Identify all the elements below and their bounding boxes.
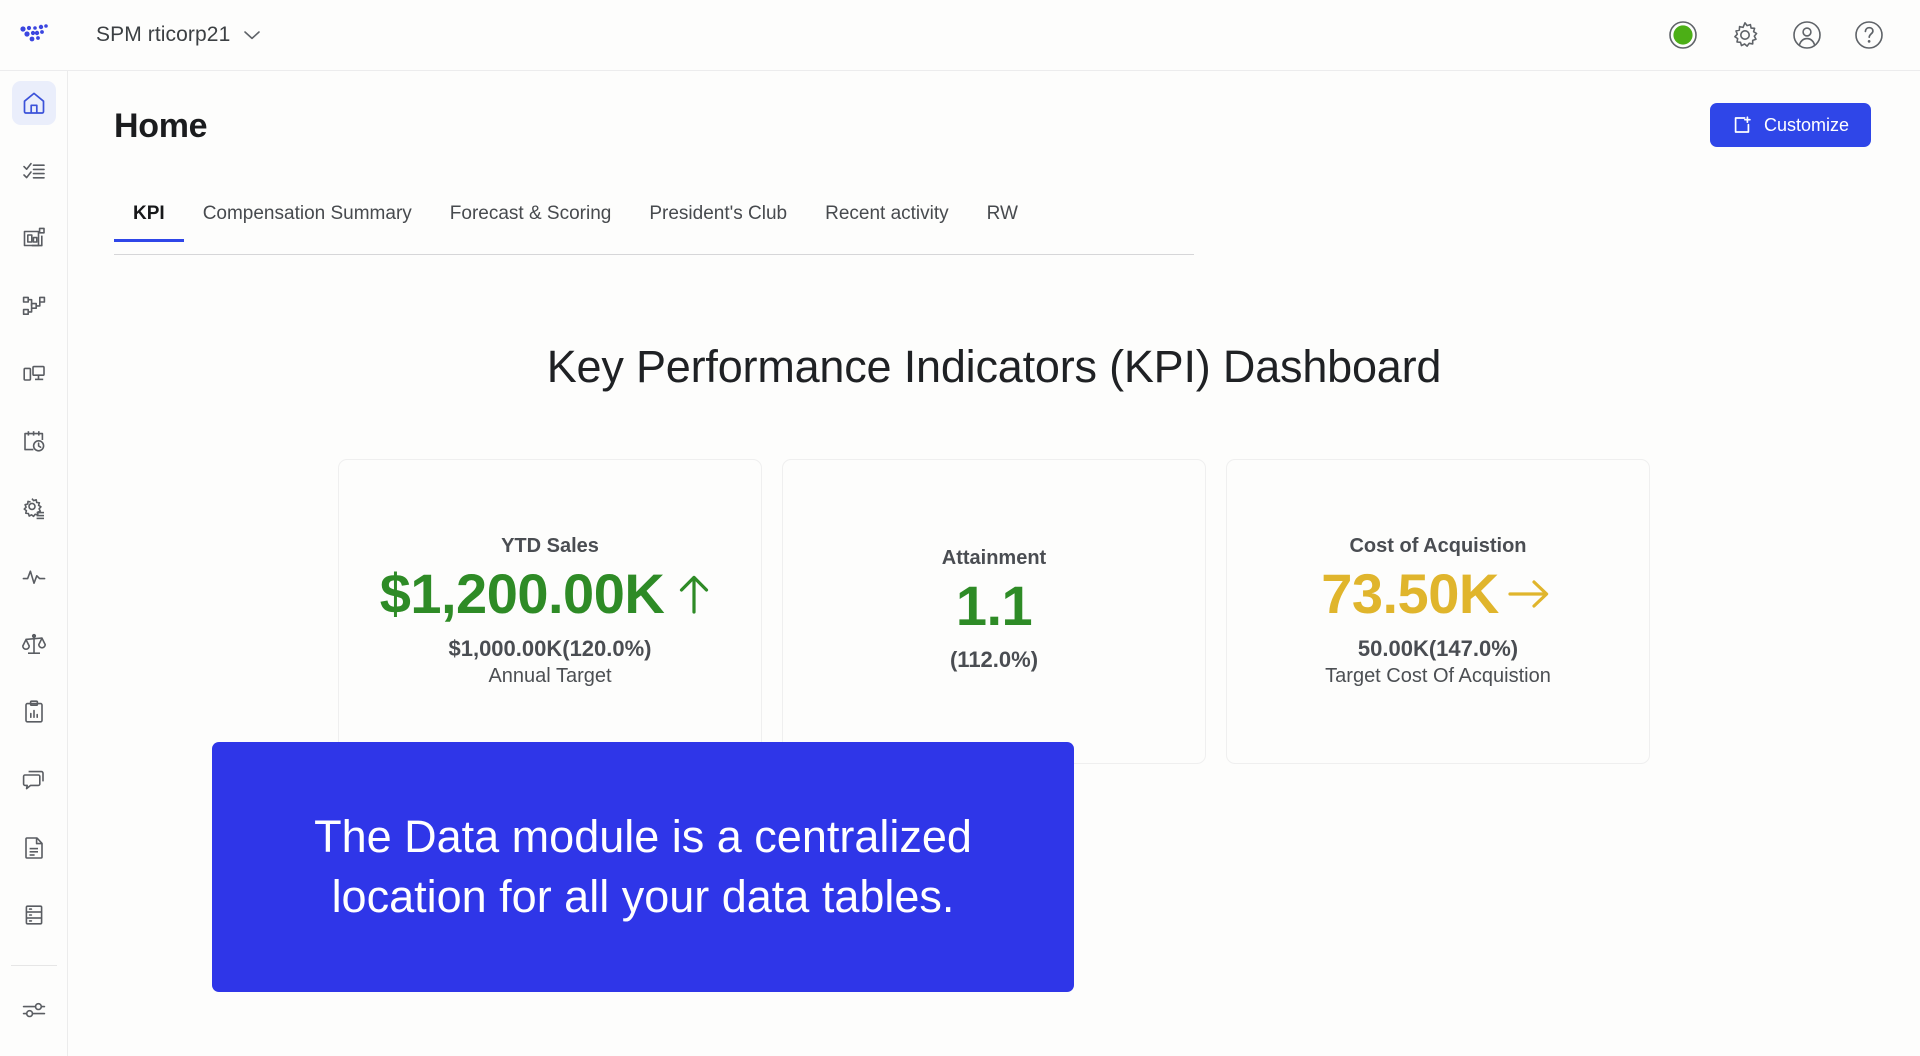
onboarding-tooltip-text: The Data module is a centralized locatio… <box>248 807 1038 928</box>
tab-bar: KPI Compensation Summary Forecast & Scor… <box>114 203 1194 255</box>
kpi-card-sub2: Target Cost Of Acquistion <box>1325 665 1551 688</box>
onboarding-tooltip[interactable]: The Data module is a centralized locatio… <box>212 742 1074 992</box>
calendar-clock-icon <box>21 428 47 454</box>
sidebar-item-preferences[interactable] <box>12 988 56 1032</box>
chat-bubbles-icon <box>21 767 47 793</box>
devices-icon <box>21 361 47 387</box>
kpi-card-list: YTD Sales $1,200.00K $1,000.00K(120.0%) … <box>68 459 1920 764</box>
arrow-up-icon <box>668 568 720 620</box>
kpi-card-cost-of-acquistion[interactable]: Cost of Acquistion 73.50K 50.00K(147.0%)… <box>1226 459 1650 764</box>
kpi-card-value: $1,200.00K <box>380 564 665 623</box>
kpi-card-value: 1.1 <box>956 576 1032 635</box>
kpi-card-value: 73.50K <box>1321 564 1499 623</box>
kpi-dashboard: Key Performance Indicators (KPI) Dashboa… <box>68 341 1920 764</box>
kpi-card-label: YTD Sales <box>501 535 599 558</box>
left-sidebar <box>0 71 68 1056</box>
kpi-card-main: $1,200.00K <box>380 564 721 623</box>
sidebar-item-tasks[interactable] <box>12 149 56 193</box>
add-frame-icon <box>1732 115 1752 135</box>
tab-compensation-summary[interactable]: Compensation Summary <box>184 203 431 242</box>
page-header: Home Customize <box>68 71 1920 203</box>
kpi-card-sub: (112.0%) <box>950 647 1038 673</box>
home-icon <box>21 90 47 116</box>
dashboard-grid-icon <box>21 225 47 251</box>
dashboard-title: Key Performance Indicators (KPI) Dashboa… <box>68 341 1920 393</box>
top-bar: SPM rticorp21 <box>0 0 1920 71</box>
sidebar-item-dashboards[interactable] <box>12 216 56 260</box>
tab-forecast-scoring[interactable]: Forecast & Scoring <box>431 203 631 242</box>
sidebar-item-devices[interactable] <box>12 352 56 396</box>
dotted-check-logo-icon <box>19 22 49 48</box>
tab-recent-activity[interactable]: Recent activity <box>806 203 968 242</box>
tab-presidents-club[interactable]: President's Club <box>630 203 806 242</box>
org-switcher[interactable]: SPM rticorp21 <box>96 23 260 47</box>
question-help-icon[interactable] <box>1854 20 1884 50</box>
tab-rw[interactable]: RW <box>968 203 1037 242</box>
app-logo[interactable] <box>0 22 68 48</box>
gear-icon[interactable] <box>1730 20 1760 50</box>
sidebar-item-rules[interactable] <box>12 487 56 531</box>
sidebar-item-balances[interactable] <box>12 623 56 667</box>
pulse-activity-icon <box>21 564 47 590</box>
tab-kpi[interactable]: KPI <box>114 203 184 242</box>
kpi-card-label: Cost of Acquistion <box>1349 535 1526 558</box>
document-icon <box>21 835 47 861</box>
user-account-icon[interactable] <box>1792 20 1822 50</box>
topbar-actions <box>1668 20 1920 50</box>
sliders-icon <box>21 997 47 1023</box>
kpi-card-sub2: Annual Target <box>488 665 611 688</box>
kpi-card-sub: $1,000.00K(120.0%) <box>448 636 651 662</box>
scales-balance-icon <box>21 632 47 658</box>
green-status-circle-icon[interactable] <box>1668 20 1698 50</box>
page-title: Home <box>114 107 207 146</box>
customize-button[interactable]: Customize <box>1710 103 1871 147</box>
sidebar-item-messages[interactable] <box>12 758 56 802</box>
sidebar-item-documents[interactable] <box>12 826 56 870</box>
sidebar-item-home[interactable] <box>12 81 56 125</box>
database-rows-icon <box>21 902 47 928</box>
kpi-card-sub: 50.00K(147.0%) <box>1358 636 1518 662</box>
sidebar-item-activity[interactable] <box>12 555 56 599</box>
kpi-card-main: 73.50K <box>1321 564 1555 623</box>
sidebar-item-reports[interactable] <box>12 690 56 734</box>
clipboard-chart-icon <box>21 699 47 725</box>
customize-button-label: Customize <box>1764 115 1849 136</box>
org-name-label: SPM rticorp21 <box>96 23 230 47</box>
checklist-icon <box>21 158 47 184</box>
chevron-down-icon <box>244 30 260 40</box>
sidebar-item-data[interactable] <box>12 894 56 938</box>
arrow-right-icon <box>1503 568 1555 620</box>
sidebar-divider <box>11 965 57 966</box>
kpi-card-main: 1.1 <box>956 576 1032 635</box>
kpi-card-ytd-sales[interactable]: YTD Sales $1,200.00K $1,000.00K(120.0%) … <box>338 459 762 764</box>
kpi-card-attainment[interactable]: Attainment 1.1 (112.0%) <box>782 459 1206 764</box>
gear-list-icon <box>21 496 47 522</box>
kpi-card-label: Attainment <box>942 547 1046 570</box>
sidebar-item-workflows[interactable] <box>12 284 56 328</box>
workflow-nodes-icon <box>21 293 47 319</box>
sidebar-item-schedules[interactable] <box>12 420 56 464</box>
